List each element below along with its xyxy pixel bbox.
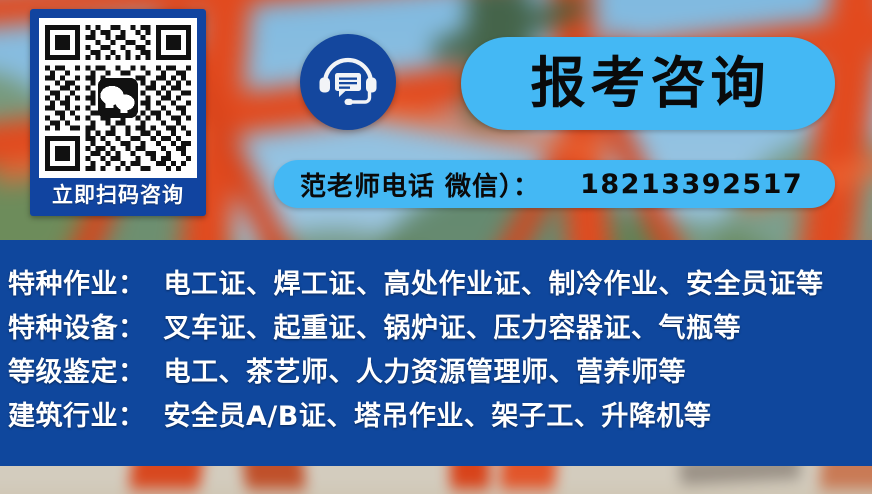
qr-code-frame (39, 18, 197, 178)
info-row-items: 电工证、焊工证、高处作业证、制冷作业、安全员证等 (164, 262, 824, 301)
bottom-strip-artwork (0, 466, 872, 494)
phone-pill[interactable]: 范老师电话 微信）： 18213392517 (274, 160, 835, 208)
info-row-items: 电工、茶艺师、人力资源管理师、营养师等 (164, 350, 687, 389)
info-row-items: 安全员A/B证、塔吊作业、架子工、升降机等 (164, 394, 712, 433)
info-row: 等级鉴定： 电工、茶艺师、人力资源管理师、营养师等 (8, 350, 872, 394)
bottom-photo-strip (0, 466, 872, 494)
info-row: 特种设备： 叉车证、起重证、锅炉证、压力容器证、气瓶等 (8, 306, 872, 350)
headset-support-badge[interactable] (300, 34, 396, 130)
phone-number: 18213392517 (580, 169, 803, 200)
info-row: 建筑行业： 安全员A/B证、塔吊作业、架子工、升降机等 (8, 394, 872, 438)
headset-support-icon (317, 52, 379, 112)
info-row-category: 特种作业： (8, 262, 146, 301)
qr-card[interactable]: 立即扫码咨询 (30, 9, 206, 216)
phone-label: 范老师电话 微信）： (300, 166, 540, 203)
info-row-category: 建筑行业： (8, 394, 146, 433)
info-row: 特种作业： 电工证、焊工证、高处作业证、制冷作业、安全员证等 (8, 262, 872, 306)
title-text: 报考咨询 (525, 56, 770, 111)
course-info-panel: 特种作业： 电工证、焊工证、高处作业证、制冷作业、安全员证等 特种设备： 叉车证… (0, 240, 872, 466)
promo-poster: 立即扫码咨询 报考咨询 范老师电话 微信）： 18213392517 (0, 0, 872, 494)
info-row-category: 等级鉴定： (8, 350, 146, 389)
wechat-icon (98, 78, 138, 118)
qr-label: 立即扫码咨询 (39, 178, 197, 216)
qr-code-icon (45, 24, 191, 172)
info-row-category: 特种设备： (8, 306, 146, 345)
info-row-items: 叉车证、起重证、锅炉证、压力容器证、气瓶等 (164, 306, 742, 345)
title-pill[interactable]: 报考咨询 (461, 37, 835, 130)
